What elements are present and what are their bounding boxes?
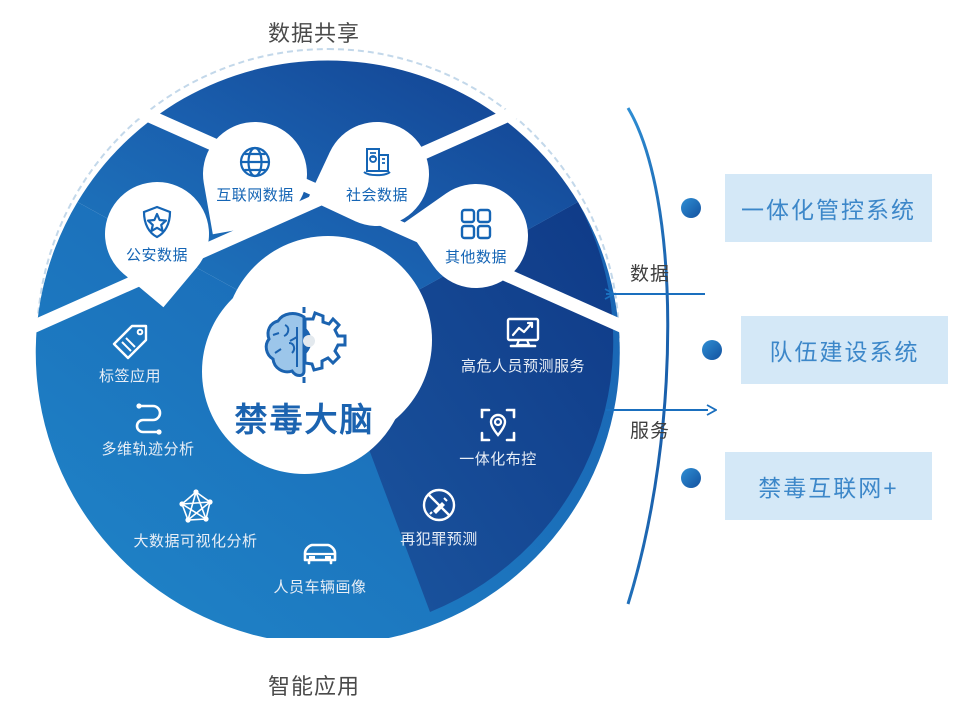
system-box-antidrug-internet-plus[interactable]: 禁毒互联网+ (725, 452, 932, 520)
section-title-bottom: 智能应用 (114, 669, 514, 701)
data-source-bubble-internet[interactable]: 互联网数据 (203, 122, 307, 242)
diagram-canvas: 数据共享 智能应用 (0, 0, 977, 719)
bubble-label: 社会数据 (346, 184, 408, 205)
connector-dot (681, 468, 701, 488)
flow-label-data: 数据 (630, 259, 670, 286)
bracket-curve (628, 108, 668, 604)
ring-item-person-vehicle[interactable]: 人员车辆画像 (262, 533, 378, 597)
bubble-label: 互联网数据 (216, 184, 294, 205)
network-graph-icon (176, 487, 216, 527)
bubble-label: 公安数据 (126, 244, 188, 265)
ring-item-label: 再犯罪预测 (400, 528, 478, 549)
bubble-label: 其他数据 (445, 246, 507, 267)
system-box-team-building[interactable]: 队伍建设系统 (741, 316, 948, 384)
flow-label-service: 服务 (630, 416, 670, 443)
ring-item-bigdata-viz[interactable]: 大数据可视化分析 (118, 487, 273, 551)
building-pin-icon (359, 144, 395, 180)
system-box-label: 一体化管控系统 (741, 191, 916, 225)
connector-dot (702, 340, 722, 360)
monitor-chart-icon (503, 312, 543, 352)
ring-item-recidivism[interactable]: 再犯罪预测 (382, 485, 496, 549)
ring-item-trajectory[interactable]: 多维轨迹分析 (90, 395, 206, 459)
system-box-label: 队伍建设系统 (770, 333, 920, 367)
trajectory-icon (128, 395, 168, 435)
data-source-bubble-gongan[interactable]: 公安数据 (105, 182, 209, 302)
globe-icon (237, 144, 273, 180)
system-box-integrated-control[interactable]: 一体化管控系统 (725, 174, 932, 242)
ring-item-label: 人员车辆画像 (273, 576, 366, 597)
connector-dot (681, 198, 701, 218)
ring-item-label: 一体化布控 (459, 448, 537, 469)
ring-item-deployment[interactable]: 一体化布控 (443, 405, 553, 469)
shield-star-icon (139, 204, 175, 240)
location-scan-icon (478, 405, 518, 445)
tag-icon (110, 322, 150, 362)
no-syringe-icon (419, 485, 459, 525)
ring-item-label: 大数据可视化分析 (133, 530, 257, 551)
car-icon (300, 533, 340, 573)
ring-item-label: 多维轨迹分析 (101, 438, 194, 459)
center-label: 禁毒大脑 (235, 393, 375, 441)
grid-squares-icon (458, 206, 494, 242)
data-source-bubble-qita[interactable]: 其他数据 (424, 184, 528, 304)
center-hub: 禁毒大脑 (202, 269, 407, 474)
system-box-label: 禁毒互联网+ (758, 469, 898, 503)
ring-item-label: 标签应用 (99, 365, 161, 386)
ring-item-tag[interactable]: 标签应用 (78, 322, 182, 386)
brain-gear-icon (259, 303, 351, 387)
